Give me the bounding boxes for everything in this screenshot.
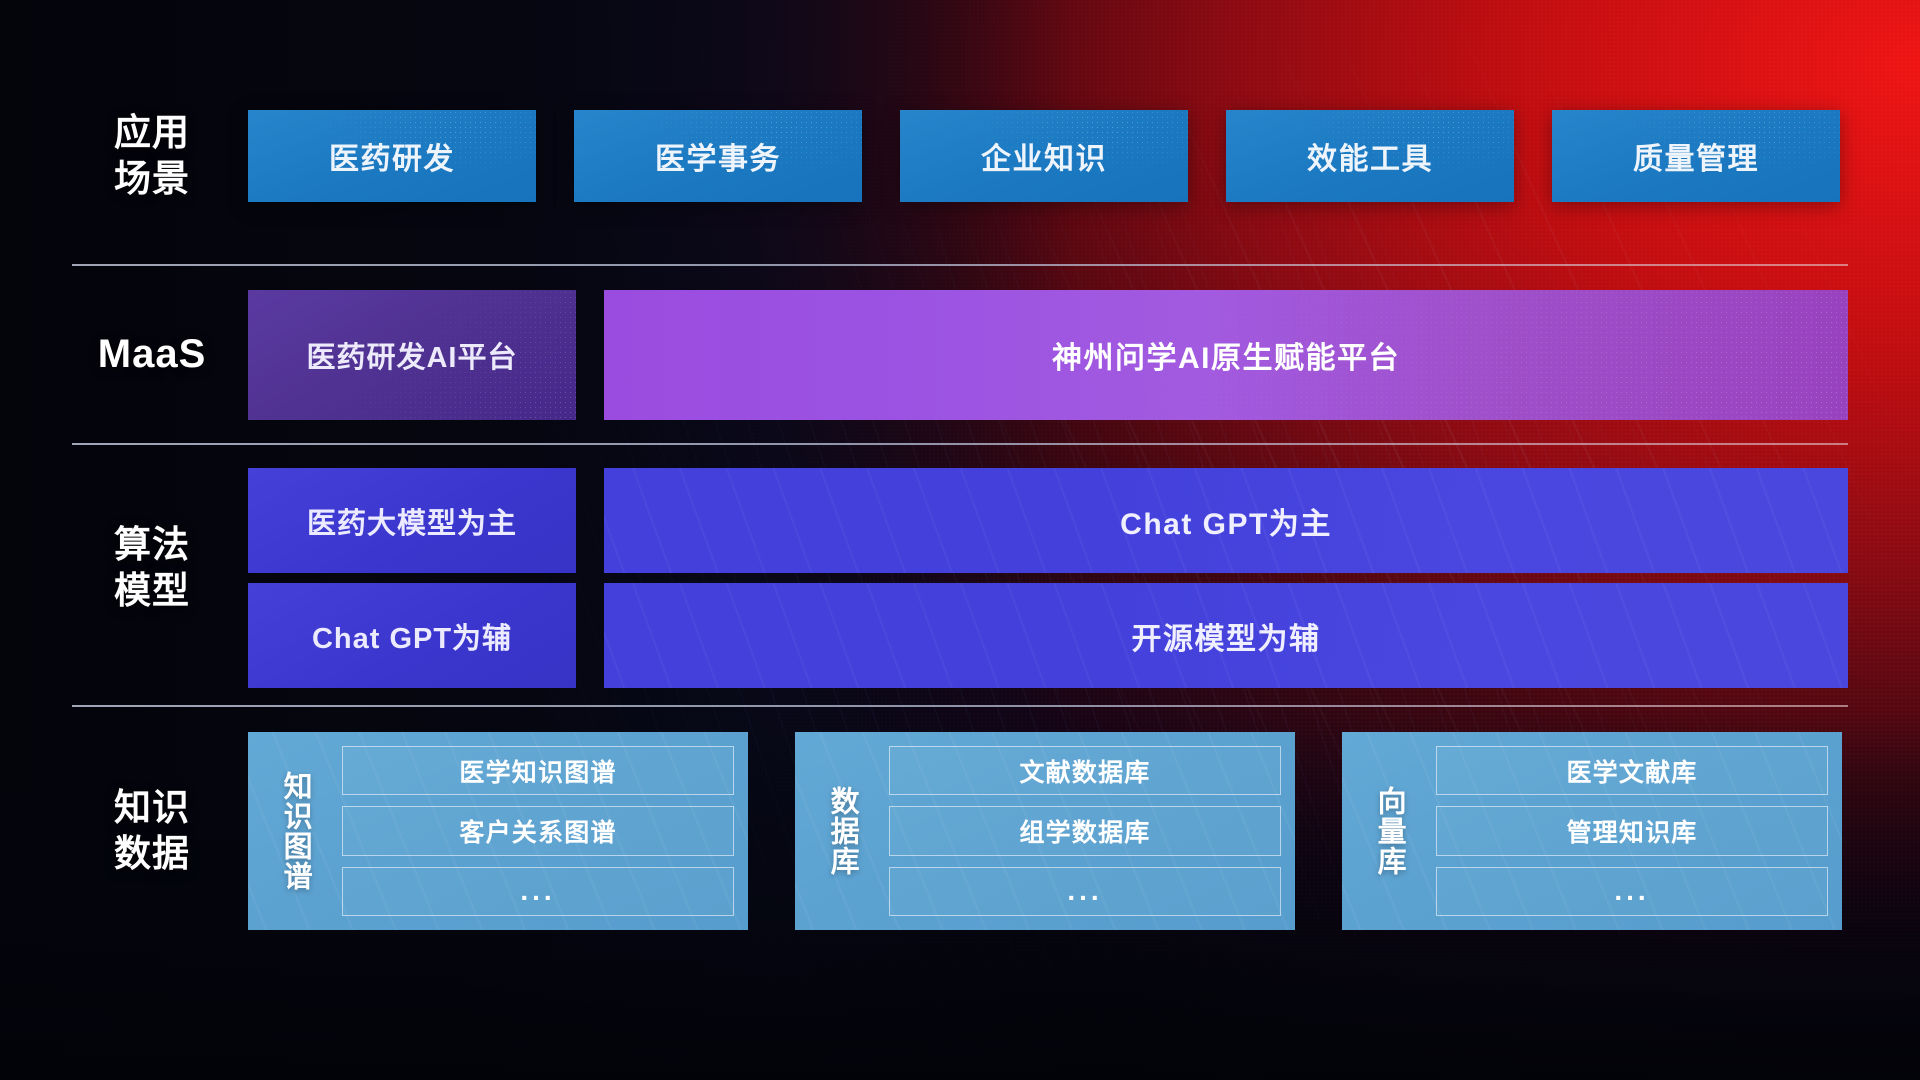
knowledge-panel-title: 数据库 <box>805 742 879 920</box>
knowledge-panel-item-list: 医学文献库 管理知识库 ... <box>1426 742 1828 920</box>
architecture-diagram: 应用 场景 医药研发 医学事务 企业知识 效能工具 质量管理 MaaS 医药研发… <box>0 0 1920 1080</box>
slide-canvas: 应用 场景 医药研发 医学事务 企业知识 效能工具 质量管理 MaaS 医药研发… <box>0 0 1920 1080</box>
scenario-box-enterprise-knowledge[interactable]: 企业知识 <box>900 110 1188 202</box>
scenario-box-efficiency-tools[interactable]: 效能工具 <box>1226 110 1514 202</box>
divider-after-maas <box>72 443 1848 445</box>
knowledge-item[interactable]: 医学知识图谱 <box>342 746 734 795</box>
maas-box-label: 医药研发AI平台 <box>306 334 517 376</box>
algo-box-chatgpt-secondary[interactable]: Chat GPT为辅 <box>248 583 576 688</box>
divider-after-algorithm-model <box>72 705 1848 707</box>
knowledge-item[interactable]: 组学数据库 <box>889 806 1281 855</box>
knowledge-panel-database[interactable]: 数据库 文献数据库 组学数据库 ... <box>795 732 1295 930</box>
algo-box-label: Chat GPT为主 <box>1120 499 1332 543</box>
algo-box-label: 开源模型为辅 <box>1132 614 1321 658</box>
knowledge-item-more[interactable]: ... <box>1436 867 1828 916</box>
row-label-knowledge-data: 知识 数据 <box>72 732 232 930</box>
knowledge-panel-title: 向量库 <box>1352 742 1426 920</box>
scenario-box-label: 医学事务 <box>655 134 781 178</box>
algo-box-open-source-secondary[interactable]: 开源模型为辅 <box>604 583 1848 688</box>
knowledge-panel-vector-store[interactable]: 向量库 医学文献库 管理知识库 ... <box>1342 732 1842 930</box>
knowledge-item[interactable]: 管理知识库 <box>1436 806 1828 855</box>
algo-box-chatgpt-primary[interactable]: Chat GPT为主 <box>604 468 1848 573</box>
knowledge-panel-title: 知识图谱 <box>258 742 332 920</box>
scenario-box-label: 企业知识 <box>981 134 1107 178</box>
algo-box-label: 医药大模型为主 <box>307 500 517 542</box>
scenario-box-label: 效能工具 <box>1307 134 1433 178</box>
knowledge-item-more[interactable]: ... <box>342 867 734 916</box>
divider-after-application-scenario <box>72 264 1848 266</box>
knowledge-panel-item-list: 文献数据库 组学数据库 ... <box>879 742 1281 920</box>
knowledge-panel-item-list: 医学知识图谱 客户关系图谱 ... <box>332 742 734 920</box>
knowledge-item[interactable]: 文献数据库 <box>889 746 1281 795</box>
scenario-box-quality-management[interactable]: 质量管理 <box>1552 110 1840 202</box>
knowledge-item[interactable]: 客户关系图谱 <box>342 806 734 855</box>
row-label-maas: MaaS <box>72 290 232 420</box>
maas-box-label: 神州问学AI原生赋能平台 <box>1052 333 1400 377</box>
scenario-box-medical-affairs[interactable]: 医学事务 <box>574 110 862 202</box>
scenario-box-label: 医药研发 <box>329 134 455 178</box>
scenario-box-label: 质量管理 <box>1633 134 1759 178</box>
algo-box-pharma-llm-primary[interactable]: 医药大模型为主 <box>248 468 576 573</box>
row-label-algorithm-model: 算法 模型 <box>72 468 232 668</box>
scenario-box-drug-rd[interactable]: 医药研发 <box>248 110 536 202</box>
knowledge-item[interactable]: 医学文献库 <box>1436 746 1828 795</box>
maas-box-shenzhou-wenxue-platform[interactable]: 神州问学AI原生赋能平台 <box>604 290 1848 420</box>
row-label-application-scenario: 应用 场景 <box>72 110 232 202</box>
algo-box-label: Chat GPT为辅 <box>312 615 512 657</box>
knowledge-item-more[interactable]: ... <box>889 867 1281 916</box>
knowledge-panel-knowledge-graph[interactable]: 知识图谱 医学知识图谱 客户关系图谱 ... <box>248 732 748 930</box>
maas-box-drug-rd-ai-platform[interactable]: 医药研发AI平台 <box>248 290 576 420</box>
